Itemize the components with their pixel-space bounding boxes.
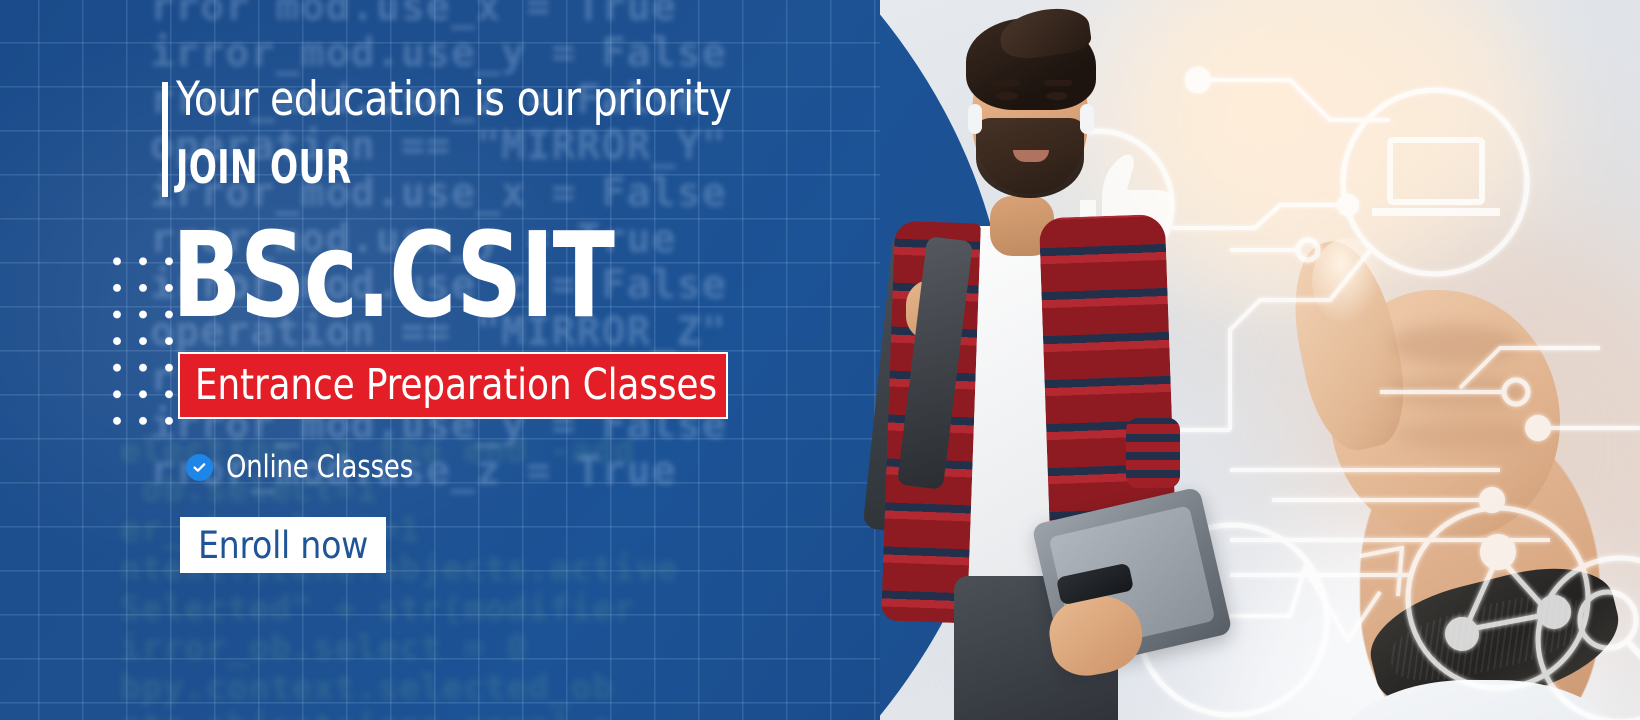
accent-bar	[162, 82, 168, 197]
highlight-banner: Entrance Preparation Classes	[178, 352, 728, 419]
highlight-banner-text: Entrance Preparation Classes	[180, 364, 717, 407]
promo-banner: rror mod.use_x = True irror_mod.use_y = …	[0, 0, 1640, 720]
enroll-now-button[interactable]: Enroll now	[180, 517, 386, 573]
feature-label: Online Classes	[226, 452, 413, 483]
pretitle-text: JOIN OUR	[176, 144, 352, 190]
earphone-right	[1080, 104, 1094, 134]
student-photo	[850, 0, 1210, 720]
check-circle-icon	[186, 454, 213, 481]
eyebrow-text: Your education is our priority	[176, 76, 732, 123]
laptop-icon	[1372, 140, 1500, 212]
earphone-left	[968, 104, 982, 134]
copy-block: Your education is our priority JOIN OUR …	[0, 0, 880, 720]
page-title: BSc.CSIT	[172, 216, 613, 334]
dot-grid-decoration	[104, 248, 178, 438]
feature-item-online-classes: Online Classes	[186, 452, 427, 483]
